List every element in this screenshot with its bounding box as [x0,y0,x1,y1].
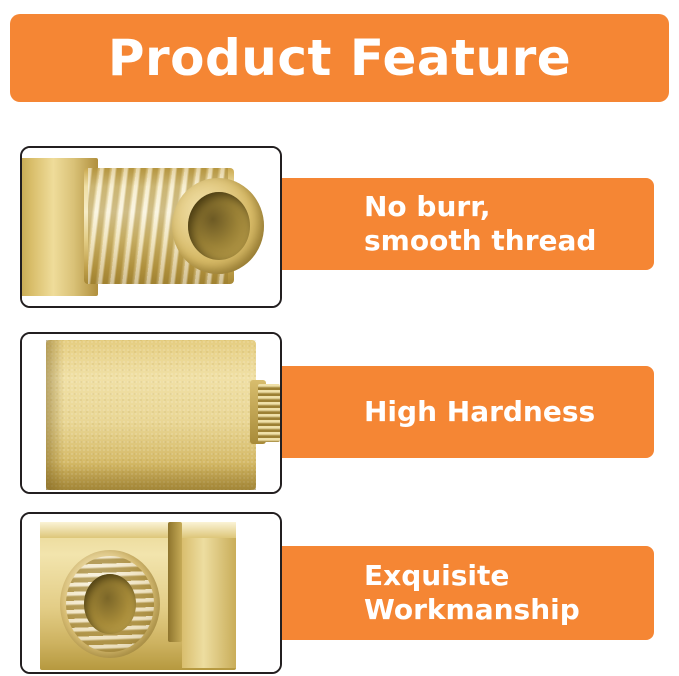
brass-block-shadow [46,462,256,490]
feature-photo-1 [20,146,282,308]
female-port-bore [84,574,136,634]
feature-photo-2-image [22,334,280,492]
brass-elbow-right-face [182,526,236,668]
feature-photo-3-image [22,514,280,672]
feature-label-2: High Hardness [364,395,595,429]
brass-elbow-seam [168,522,182,642]
feature-label-1: No burr, smooth thread [364,190,596,258]
feature-row-3: Exquisite Workmanship [0,512,679,672]
feature-photo-3 [20,512,282,674]
feature-photo-2 [20,332,282,494]
feature-label-bar-1: No burr, smooth thread [258,178,654,270]
feature-label-3: Exquisite Workmanship [364,559,580,627]
feature-label-bar-3: Exquisite Workmanship [258,546,654,640]
feature-label-bar-2: High Hardness [258,366,654,458]
header-banner: Product Feature [10,14,669,102]
page-title: Product Feature [108,33,571,83]
feature-photo-1-image [22,148,280,306]
feature-row-1: No burr, smooth thread [0,138,679,302]
product-feature-page: Product Feature No burr, smooth thread H… [0,0,679,676]
brass-elbow-top-edge [40,522,236,538]
feature-row-2: High Hardness [0,328,679,492]
brass-side-port-threads [258,384,280,442]
thread-bore [188,192,250,260]
